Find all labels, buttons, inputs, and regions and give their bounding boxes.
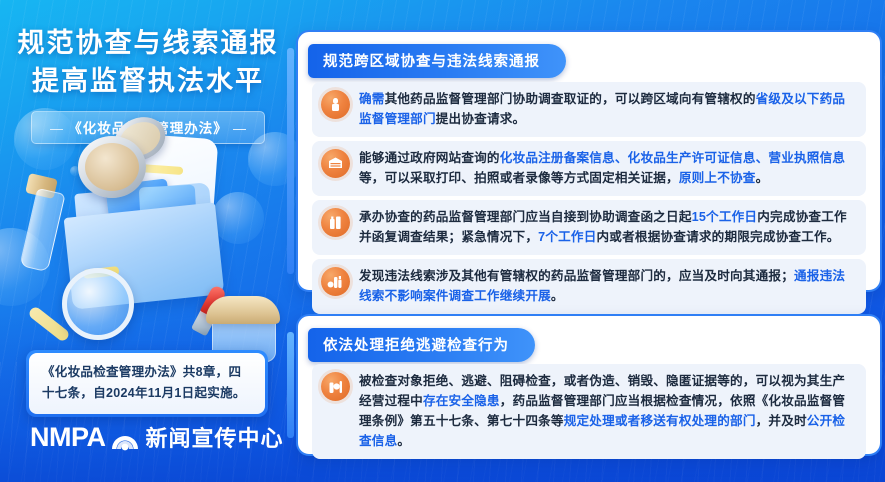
highlighted-text: 确需 (359, 92, 385, 106)
bullet-list: 确需其他药品监督管理部门协助调查取证的，可以跨区域向有管辖权的省级及以下药品监督… (312, 82, 866, 314)
list-item: 承办协查的药品监督管理部门应当自接到协助调查函之日起15个工作日内完成协查工作并… (312, 200, 866, 255)
highlighted-text: 15个工作日 (692, 210, 758, 224)
nmpa-wordmark: NMPA (30, 422, 106, 453)
body-text: 承办协查的药品监督管理部门应当自接到协助调查函之日起 (359, 210, 692, 224)
body-text: 能够通过政府网站查询的 (359, 151, 500, 165)
body-text: 。 (756, 171, 769, 185)
body-text: 内或者根据协查请求的期限完成协查工作。 (597, 230, 840, 244)
bullet-list: 被检查对象拒绝、逃避、阻碍检查，或者伪造、销毁、隐匿证据等的，可以视为其生产经营… (312, 364, 866, 459)
cosmetics-illustration (0, 118, 296, 343)
body-text: 发现违法线索涉及其他有管辖权的药品监督管理部门的，应当及时向其通报； (359, 269, 794, 283)
list-item: 发现违法线索涉及其他有管辖权的药品监督管理部门的，应当及时向其通报；通报违法线索… (312, 259, 866, 314)
list-item: 被检查对象拒绝、逃避、阻碍检查，或者伪造、销毁、隐匿证据等的，可以视为其生产经营… (312, 364, 866, 459)
card-heading: 依法处理拒绝逃避检查行为 (308, 328, 535, 362)
content-panel: 规范跨区域协查与违法线索通报 确需其他药品监督管理部门协助调查取证的，可以跨区域… (292, 0, 885, 482)
body-text: ，并及时 (756, 414, 807, 428)
nmpa-logo: NMPA 新闻宣传中心 (30, 421, 284, 453)
regulation-summary-box: 《化妆品检查管理办法》共8章，四十七条，自2024年11月1日起实施。 (26, 350, 268, 417)
card-heading: 规范跨区域协查与违法线索通报 (308, 44, 566, 78)
highlighted-text: 规定处理或者移送有权处理的部门 (564, 414, 756, 428)
list-item: 能够通过政府网站查询的化妆品注册备案信息、化妆品生产许可证信息、营业执照信息等，… (312, 141, 866, 196)
list-item-text: 发现违法线索涉及其他有管辖权的药品监督管理部门的，应当及时向其通报；通报违法线索… (359, 266, 856, 306)
makeup-palette-icon (321, 372, 350, 401)
page-title-line-2: 提高监督执法水平 (0, 62, 296, 100)
body-text: 提出协查请求。 (436, 112, 526, 126)
body-text: 其他药品监督管理部门协助调查取证的，可以跨区域向有管辖权的 (385, 92, 756, 106)
card-cross-region-inquiry: 规范跨区域协查与违法线索通报 确需其他药品监督管理部门协助调查取证的，可以跨区域… (298, 32, 880, 290)
decorative-bubble (212, 192, 264, 244)
bottles-icon (321, 208, 350, 237)
lotion-bottle-icon (19, 188, 65, 272)
cosmetic-box-icon (321, 149, 350, 178)
card-accent-bar (287, 48, 294, 274)
highlighted-text: 化妆品注册备案信息、化妆品生产许可证信息、营业执照信息 (500, 151, 845, 165)
cosmetic-set-icon (321, 267, 350, 296)
highlighted-text: 原则上不协查 (679, 171, 756, 185)
highlighted-text: 7个工作日 (538, 230, 596, 244)
list-item-text: 被检查对象拒绝、逃避、阻碍检查，或者伪造、销毁、隐匿证据等的，可以视为其生产经营… (359, 371, 856, 451)
body-text: 。 (551, 289, 564, 303)
decorative-bubble (14, 108, 76, 170)
body-text: 等，可以采取打印、拍照或者录像等方式固定相关证据， (359, 171, 679, 185)
list-item-text: 承办协查的药品监督管理部门应当自接到协助调查函之日起15个工作日内完成协查工作并… (359, 207, 856, 247)
hero-panel: 规范协查与线索通报 提高监督执法水平 《化妆品检查管理办法》 (0, 0, 296, 482)
body-text: 。 (397, 434, 410, 448)
cream-jar-lid (206, 296, 280, 324)
page-title-line-1: 规范协查与线索通报 (0, 24, 296, 62)
card-refusal-handling: 依法处理拒绝逃避检查行为 被检查对象拒绝、逃避、阻碍检查，或者伪造、销毁、隐匿证… (298, 316, 880, 454)
infographic-canvas: 规范协查与线索通报 提高监督执法水平 《化妆品检查管理办法》 (0, 0, 885, 482)
nmpa-arch-icon (110, 423, 140, 451)
magnifier-icon (62, 268, 134, 340)
compact-powder-icon (78, 136, 146, 198)
nmpa-center-name: 新闻宣传中心 (146, 421, 284, 453)
list-item-text: 能够通过政府网站查询的化妆品注册备案信息、化妆品生产许可证信息、营业执照信息等，… (359, 148, 856, 188)
card-accent-bar (287, 332, 294, 438)
highlighted-text: 存在安全隐患 (423, 394, 500, 408)
list-item-text: 确需其他药品监督管理部门协助调查取证的，可以跨区域向有管辖权的省级及以下药品监督… (359, 89, 856, 129)
list-item: 确需其他药品监督管理部门协助调查取证的，可以跨区域向有管辖权的省级及以下药品监督… (312, 82, 866, 137)
regulation-summary-text: 《化妆品检查管理办法》共8章，四十七条，自2024年11月1日起实施。 (29, 353, 265, 414)
lipstick-tube-icon (321, 90, 350, 119)
